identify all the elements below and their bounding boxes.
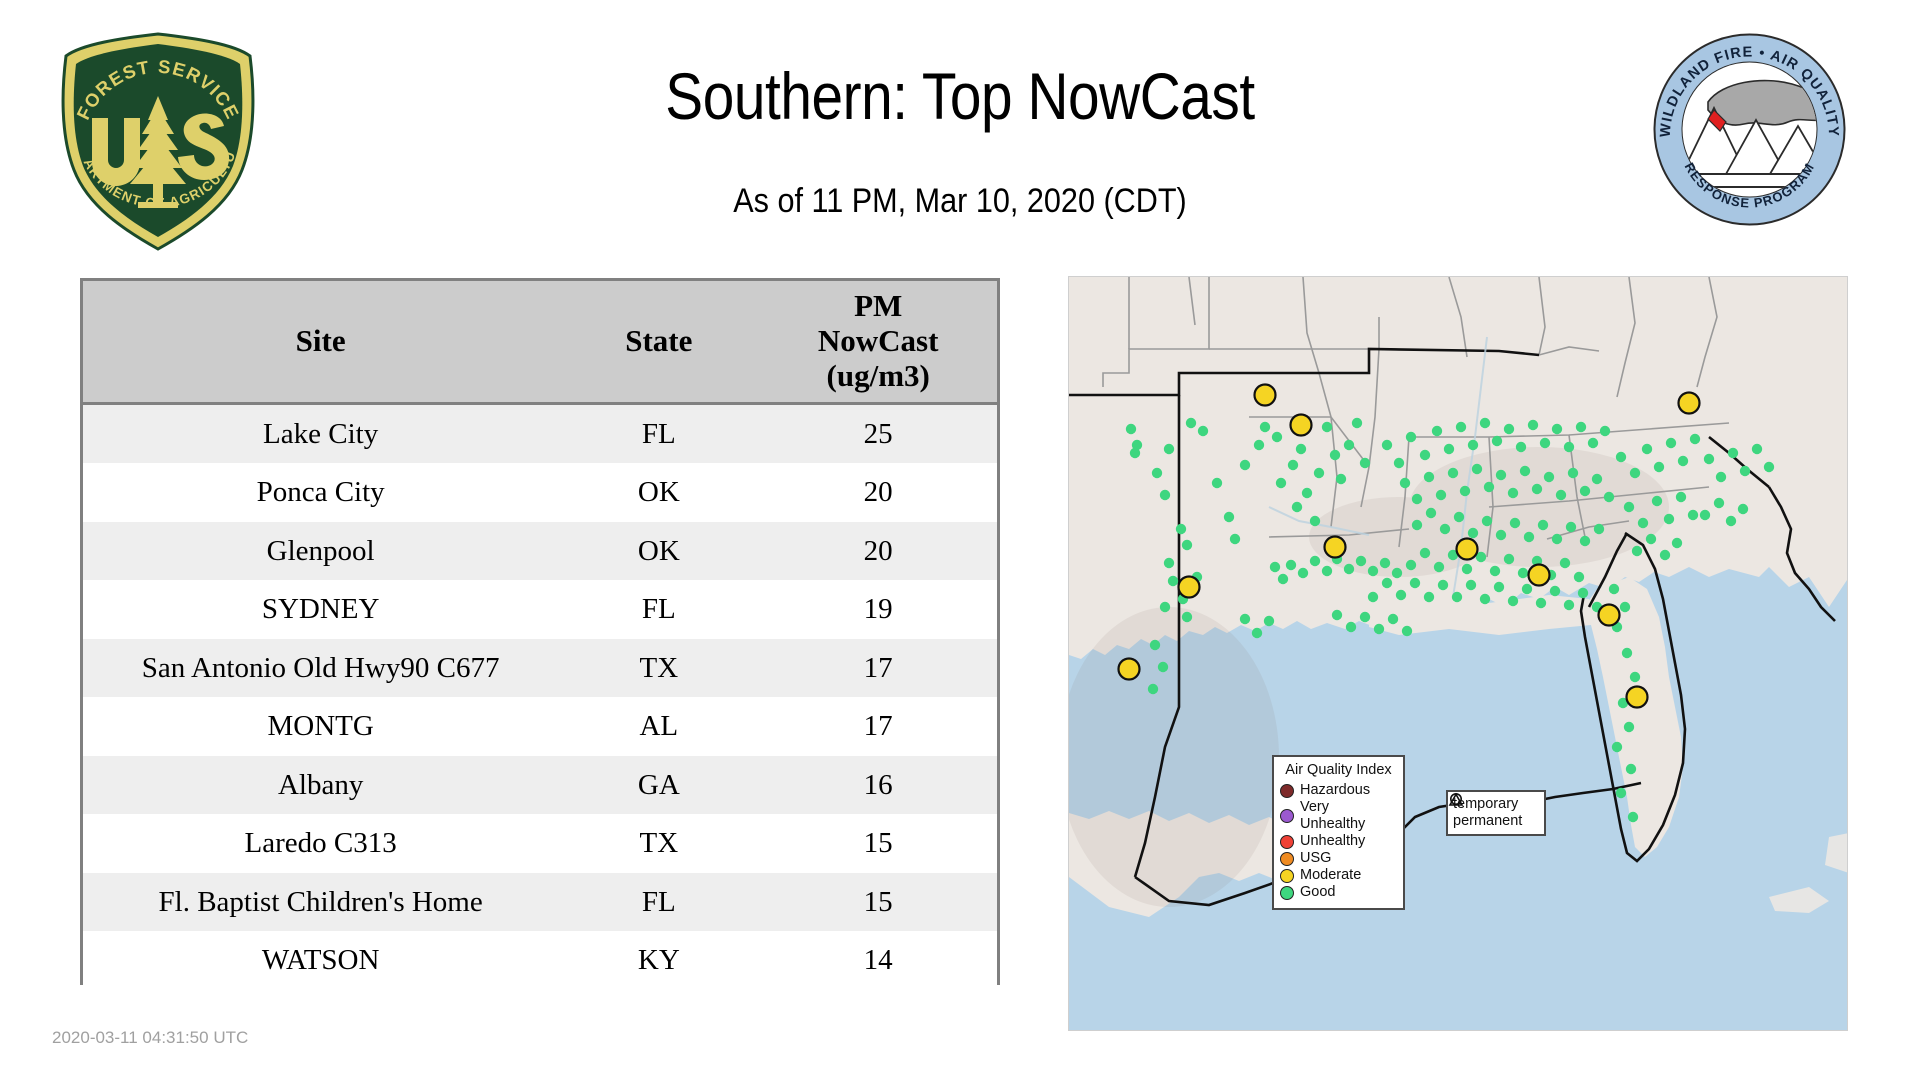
cell-state: KY [558, 931, 759, 990]
monitor-marker-good[interactable] [1616, 788, 1626, 798]
monitor-marker-good[interactable] [1420, 450, 1430, 460]
cell-site: Glenpool [83, 522, 558, 581]
monitor-marker-good[interactable] [1270, 562, 1280, 572]
monitor-marker-good[interactable] [1264, 616, 1274, 626]
cell-state: GA [558, 756, 759, 815]
table-body: Lake CityFL25Ponca CityOK20GlenpoolOK20S… [83, 403, 997, 990]
monitor-marker-good[interactable] [1336, 474, 1346, 484]
monitor-marker-good[interactable] [1716, 472, 1726, 482]
monitor-marker-good[interactable] [1176, 524, 1186, 534]
monitor-marker-good[interactable] [1382, 440, 1392, 450]
monitor-marker-good[interactable] [1496, 470, 1506, 480]
monitor-marker-good[interactable] [1616, 452, 1626, 462]
cell-pm: 20 [759, 522, 997, 581]
monitor-marker-good[interactable] [1230, 534, 1240, 544]
monitor-marker-good[interactable] [1518, 568, 1528, 578]
monitor-marker-good[interactable] [1492, 436, 1502, 446]
monitor-marker-good[interactable] [1158, 662, 1168, 672]
page-subtitle: As of 11 PM, Mar 10, 2020 (CDT) [366, 182, 1554, 221]
table-row: MONTGAL17 [83, 697, 997, 756]
monitor-marker-good[interactable] [1240, 460, 1250, 470]
aqi-legend-row: USG [1280, 850, 1397, 867]
monitor-marker-moderate[interactable] [1119, 659, 1140, 680]
monitor-marker-good[interactable] [1462, 564, 1472, 574]
monitor-marker-good[interactable] [1332, 610, 1342, 620]
monitor-marker-good[interactable] [1322, 566, 1332, 576]
monitor-marker-good[interactable] [1448, 468, 1458, 478]
monitor-marker-good[interactable] [1148, 684, 1158, 694]
cell-pm: 15 [759, 814, 997, 873]
monitor-marker-good[interactable] [1738, 504, 1748, 514]
monitor-marker-good[interactable] [1664, 514, 1674, 524]
monitor-marker-good[interactable] [1302, 488, 1312, 498]
monitor-marker-good[interactable] [1380, 558, 1390, 568]
aqi-legend-row: Very Unhealthy [1280, 799, 1397, 833]
monitor-marker-good[interactable] [1752, 444, 1762, 454]
wfaqrp-seal-logo: WILDLAND FIRE • AIR QUALITY RESPONSE PRO… [1652, 32, 1847, 227]
monitor-marker-good[interactable] [1182, 540, 1192, 550]
monitor-marker-good[interactable] [1434, 562, 1444, 572]
monitor-marker-good[interactable] [1678, 456, 1688, 466]
monitor-marker-good[interactable] [1540, 438, 1550, 448]
monitor-marker-good[interactable] [1468, 440, 1478, 450]
aqi-color-swatch [1280, 869, 1294, 883]
aqi-legend-label: USG [1300, 850, 1331, 867]
monitor-marker-good[interactable] [1410, 578, 1420, 588]
monitor-marker-good[interactable] [1436, 490, 1446, 500]
monitor-marker-good[interactable] [1604, 492, 1614, 502]
monitor-marker-good[interactable] [1630, 468, 1640, 478]
monitor-marker-good[interactable] [1212, 478, 1222, 488]
monitor-marker-good[interactable] [1400, 478, 1410, 488]
monitor-marker-moderate[interactable] [1255, 385, 1276, 406]
aqi-legend-title: Air Quality Index [1280, 762, 1397, 778]
table-row: San Antonio Old Hwy90 C677TX17 [83, 639, 997, 698]
cell-pm: 17 [759, 639, 997, 698]
aqi-legend-row: Moderate [1280, 867, 1397, 884]
monitor-marker-good[interactable] [1344, 564, 1354, 574]
monitor-marker-good[interactable] [1344, 440, 1354, 450]
monitor-marker-good[interactable] [1576, 422, 1586, 432]
monitor-marker-good[interactable] [1424, 472, 1434, 482]
table-row: Ponca CityOK20 [83, 463, 997, 522]
monitor-marker-good[interactable] [1580, 536, 1590, 546]
monitor-marker-good[interactable] [1130, 448, 1140, 458]
cell-pm: 16 [759, 756, 997, 815]
monitor-marker-good[interactable] [1480, 418, 1490, 428]
table-row: WATSONKY14 [83, 931, 997, 990]
page-title: Southern: Top NowCast [392, 58, 1527, 134]
monitor-marker-good[interactable] [1496, 530, 1506, 540]
monitor-marker-good[interactable] [1460, 486, 1470, 496]
monitor-marker-good[interactable] [1564, 600, 1574, 610]
monitor-marker-good[interactable] [1164, 558, 1174, 568]
monitor-marker-good[interactable] [1160, 490, 1170, 500]
monitor-marker-good[interactable] [1544, 472, 1554, 482]
monitor-marker-moderate[interactable] [1291, 415, 1312, 436]
monitor-marker-good[interactable] [1454, 512, 1464, 522]
monitor-marker-good[interactable] [1550, 586, 1560, 596]
monitor-marker-good[interactable] [1276, 478, 1286, 488]
cell-pm: 15 [759, 873, 997, 932]
monitor-marker-good[interactable] [1524, 532, 1534, 542]
monitor-marker-good[interactable] [1522, 584, 1532, 594]
aqi-color-swatch [1280, 886, 1294, 900]
monitor-marker-good[interactable] [1580, 486, 1590, 496]
cell-site: Ponca City [83, 463, 558, 522]
cell-state: FL [558, 580, 759, 639]
monitor-marker-good[interactable] [1566, 522, 1576, 532]
monitor-marker-good[interactable] [1452, 592, 1462, 602]
monitor-marker-good[interactable] [1406, 432, 1416, 442]
monitor-marker-good[interactable] [1666, 438, 1676, 448]
monitor-marker-good[interactable] [1260, 422, 1270, 432]
monitor-marker-good[interactable] [1536, 598, 1546, 608]
monitor-marker-moderate[interactable] [1599, 605, 1620, 626]
monitor-marker-good[interactable] [1286, 560, 1296, 570]
cell-site: Albany [83, 756, 558, 815]
column-header-site: Site [83, 281, 558, 403]
monitor-marker-good[interactable] [1368, 566, 1378, 576]
monitor-marker-good[interactable] [1272, 432, 1282, 442]
aqi-color-swatch [1280, 809, 1294, 823]
monitor-marker-good[interactable] [1352, 418, 1362, 428]
aqi-legend-label: Hazardous [1300, 782, 1370, 799]
monitor-marker-good[interactable] [1314, 468, 1324, 478]
pm-header-line3: (ug/m3) [827, 358, 930, 393]
aqi-legend-row: Unhealthy [1280, 833, 1397, 850]
cell-site: Fl. Baptist Children's Home [83, 873, 558, 932]
monitor-marker-good[interactable] [1254, 440, 1264, 450]
monitor-marker-good[interactable] [1346, 622, 1356, 632]
cell-site: San Antonio Old Hwy90 C677 [83, 639, 558, 698]
monitor-marker-good[interactable] [1592, 474, 1602, 484]
monitor-marker-good[interactable] [1432, 426, 1442, 436]
monitor-marker-good[interactable] [1676, 492, 1686, 502]
cell-site: MONTG [83, 697, 558, 756]
column-header-state: State [558, 281, 759, 403]
monitor-marker-moderate[interactable] [1679, 393, 1700, 414]
monitor-marker-good[interactable] [1310, 556, 1320, 566]
monitor-marker-good[interactable] [1292, 502, 1302, 512]
cell-site: WATSON [83, 931, 558, 990]
monitor-marker-good[interactable] [1638, 518, 1648, 528]
monitor-marker-good[interactable] [1412, 520, 1422, 530]
monitor-marker-good[interactable] [1628, 812, 1638, 822]
aqi-legend-label: Very Unhealthy [1300, 799, 1397, 833]
monitor-marker-good[interactable] [1160, 602, 1170, 612]
monitor-marker-good[interactable] [1394, 458, 1404, 468]
column-header-pm-nowcast: PM NowCast (ug/m3) [759, 281, 997, 403]
monitor-marker-good[interactable] [1504, 424, 1514, 434]
monitor-marker-good[interactable] [1322, 422, 1332, 432]
monitor-marker-good[interactable] [1532, 484, 1542, 494]
monitor-marker-good[interactable] [1652, 496, 1662, 506]
cell-pm: 20 [759, 463, 997, 522]
monitor-marker-good[interactable] [1564, 442, 1574, 452]
cell-site: SYDNEY [83, 580, 558, 639]
monitor-marker-good[interactable] [1480, 594, 1490, 604]
aqi-color-swatch [1280, 784, 1294, 798]
monitor-marker-good[interactable] [1198, 426, 1208, 436]
monitor-marker-good[interactable] [1672, 538, 1682, 548]
legend-row-permanent: permanent [1453, 813, 1539, 830]
monitor-marker-good[interactable] [1654, 462, 1664, 472]
monitor-marker-good[interactable] [1388, 614, 1398, 624]
cell-state: FL [558, 403, 759, 463]
monitor-marker-good[interactable] [1714, 498, 1724, 508]
air-quality-monitor-map[interactable]: Air Quality Index HazardousVery Unhealth… [1068, 276, 1848, 1031]
monitor-marker-good[interactable] [1224, 512, 1234, 522]
monitor-marker-good[interactable] [1168, 576, 1178, 586]
cell-pm: 19 [759, 580, 997, 639]
monitor-marker-good[interactable] [1382, 578, 1392, 588]
monitor-marker-good[interactable] [1466, 580, 1476, 590]
cell-pm: 17 [759, 697, 997, 756]
monitor-marker-moderate[interactable] [1179, 577, 1200, 598]
monitor-marker-good[interactable] [1288, 460, 1298, 470]
aqi-legend: Air Quality Index HazardousVery Unhealth… [1272, 755, 1405, 910]
monitor-marker-moderate[interactable] [1627, 687, 1648, 708]
monitor-marker-good[interactable] [1150, 640, 1160, 650]
aqi-legend-label: Good [1300, 884, 1335, 901]
pm-header-line1: PM [854, 288, 902, 323]
monitor-marker-good[interactable] [1528, 420, 1538, 430]
monitor-marker-good[interactable] [1630, 672, 1640, 682]
monitor-marker-good[interactable] [1688, 510, 1698, 520]
monitor-marker-good[interactable] [1660, 550, 1670, 560]
table-row: GlenpoolOK20 [83, 522, 997, 581]
monitor-marker-good[interactable] [1726, 516, 1736, 526]
monitor-marker-good[interactable] [1420, 548, 1430, 558]
monitor-marker-good[interactable] [1484, 482, 1494, 492]
monitor-marker-good[interactable] [1624, 502, 1634, 512]
cell-state: TX [558, 639, 759, 698]
monitor-marker-good[interactable] [1444, 444, 1454, 454]
monitor-marker-good[interactable] [1504, 554, 1514, 564]
monitor-marker-good[interactable] [1164, 444, 1174, 454]
monitor-marker-good[interactable] [1438, 580, 1448, 590]
monitor-marker-moderate[interactable] [1325, 537, 1346, 558]
aqi-legend-label: Moderate [1300, 867, 1361, 884]
monitor-marker-good[interactable] [1510, 518, 1520, 528]
monitor-marker-good[interactable] [1412, 494, 1422, 504]
monitor-marker-good[interactable] [1426, 508, 1436, 518]
monitor-marker-good[interactable] [1298, 568, 1308, 578]
table-row: Fl. Baptist Children's HomeFL15 [83, 873, 997, 932]
monitor-marker-good[interactable] [1609, 584, 1619, 594]
monitor-marker-good[interactable] [1126, 424, 1136, 434]
monitor-marker-good[interactable] [1424, 592, 1434, 602]
usfs-shield-logo: FOREST SERVICE DEPARTMENT OF AGRICULTURE [52, 30, 264, 255]
monitor-marker-good[interactable] [1632, 546, 1642, 556]
cell-pm: 14 [759, 931, 997, 990]
legend-row-temporary: temporary [1453, 796, 1539, 813]
monitor-marker-moderate[interactable] [1457, 539, 1478, 560]
monitor-marker-good[interactable] [1396, 590, 1406, 600]
monitor-marker-good[interactable] [1406, 560, 1416, 570]
monitor-marker-good[interactable] [1252, 628, 1262, 638]
monitor-marker-good[interactable] [1520, 466, 1530, 476]
monitor-marker-good[interactable] [1402, 626, 1412, 636]
monitor-marker-good[interactable] [1494, 582, 1504, 592]
table-row: Laredo C313TX15 [83, 814, 997, 873]
monitor-marker-good[interactable] [1594, 524, 1604, 534]
monitor-marker-good[interactable] [1310, 516, 1320, 526]
monitor-marker-good[interactable] [1626, 764, 1636, 774]
monitor-marker-good[interactable] [1578, 588, 1588, 598]
cell-state: AL [558, 697, 759, 756]
monitor-marker-good[interactable] [1538, 520, 1548, 530]
table-row: SYDNEYFL19 [83, 580, 997, 639]
monitor-marker-good[interactable] [1472, 464, 1482, 474]
monitor-marker-good[interactable] [1374, 624, 1384, 634]
cell-state: TX [558, 814, 759, 873]
cell-state: OK [558, 522, 759, 581]
cell-site: Laredo C313 [83, 814, 558, 873]
monitor-marker-good[interactable] [1574, 572, 1584, 582]
monitor-marker-good[interactable] [1704, 454, 1714, 464]
monitor-marker-good[interactable] [1560, 558, 1570, 568]
monitor-marker-good[interactable] [1490, 566, 1500, 576]
monitor-marker-good[interactable] [1278, 574, 1288, 584]
monitor-marker-good[interactable] [1552, 534, 1562, 544]
monitor-marker-good[interactable] [1764, 462, 1774, 472]
monitor-marker-good[interactable] [1588, 438, 1598, 448]
monitor-marker-good[interactable] [1360, 612, 1370, 622]
monitor-marker-good[interactable] [1556, 490, 1566, 500]
monitor-marker-good[interactable] [1642, 444, 1652, 454]
triangle-outline-icon [1448, 792, 1464, 808]
cell-state: FL [558, 873, 759, 932]
cell-pm: 25 [759, 403, 997, 463]
monitor-marker-good[interactable] [1456, 422, 1466, 432]
monitor-marker-good[interactable] [1152, 468, 1162, 478]
monitor-marker-good[interactable] [1624, 722, 1634, 732]
table-row: AlbanyGA16 [83, 756, 997, 815]
aqi-legend-row: Hazardous [1280, 782, 1397, 799]
monitor-marker-good[interactable] [1240, 614, 1250, 624]
cell-site: Lake City [83, 403, 558, 463]
monitor-marker-good[interactable] [1600, 426, 1610, 436]
pm-header-line2: NowCast [818, 323, 939, 358]
monitor-marker-good[interactable] [1622, 648, 1632, 658]
monitor-marker-good[interactable] [1468, 528, 1478, 538]
monitor-marker-good[interactable] [1182, 612, 1192, 622]
monitor-marker-good[interactable] [1690, 434, 1700, 444]
monitor-marker-good[interactable] [1508, 488, 1518, 498]
monitor-marker-good[interactable] [1356, 556, 1366, 566]
monitor-marker-good[interactable] [1392, 568, 1402, 578]
monitor-marker-good[interactable] [1482, 516, 1492, 526]
monitor-marker-good[interactable] [1368, 592, 1378, 602]
monitor-marker-good[interactable] [1440, 524, 1450, 534]
monitor-marker-good[interactable] [1508, 596, 1518, 606]
monitor-marker-good[interactable] [1740, 466, 1750, 476]
generated-timestamp: 2020-03-11 04:31:50 UTC [52, 1028, 248, 1048]
table-header-row: Site State PM NowCast (ug/m3) [83, 281, 997, 403]
top-nowcast-table: Site State PM NowCast (ug/m3) Lake CityF… [80, 278, 1000, 985]
aqi-legend-label: Unhealthy [1300, 833, 1365, 850]
monitor-marker-good[interactable] [1646, 534, 1656, 544]
aqi-color-swatch [1280, 852, 1294, 866]
aqi-color-swatch [1280, 835, 1294, 849]
aqi-legend-row: Good [1280, 884, 1397, 901]
monitor-marker-good[interactable] [1360, 458, 1370, 468]
monitor-marker-good[interactable] [1568, 468, 1578, 478]
monitor-marker-good[interactable] [1728, 448, 1738, 458]
table-row: Lake CityFL25 [83, 403, 997, 463]
monitor-marker-good[interactable] [1296, 444, 1306, 454]
monitor-marker-good[interactable] [1700, 510, 1710, 520]
monitor-marker-good[interactable] [1552, 424, 1562, 434]
monitor-marker-moderate[interactable] [1529, 565, 1550, 586]
cell-state: OK [558, 463, 759, 522]
monitor-marker-good[interactable] [1516, 442, 1526, 452]
monitor-marker-good[interactable] [1186, 418, 1196, 428]
monitor-marker-good[interactable] [1620, 602, 1630, 612]
monitor-type-legend: temporary permanent [1446, 790, 1546, 836]
monitor-marker-good[interactable] [1612, 742, 1622, 752]
monitor-marker-good[interactable] [1330, 450, 1340, 460]
legend-label-permanent: permanent [1453, 813, 1522, 830]
